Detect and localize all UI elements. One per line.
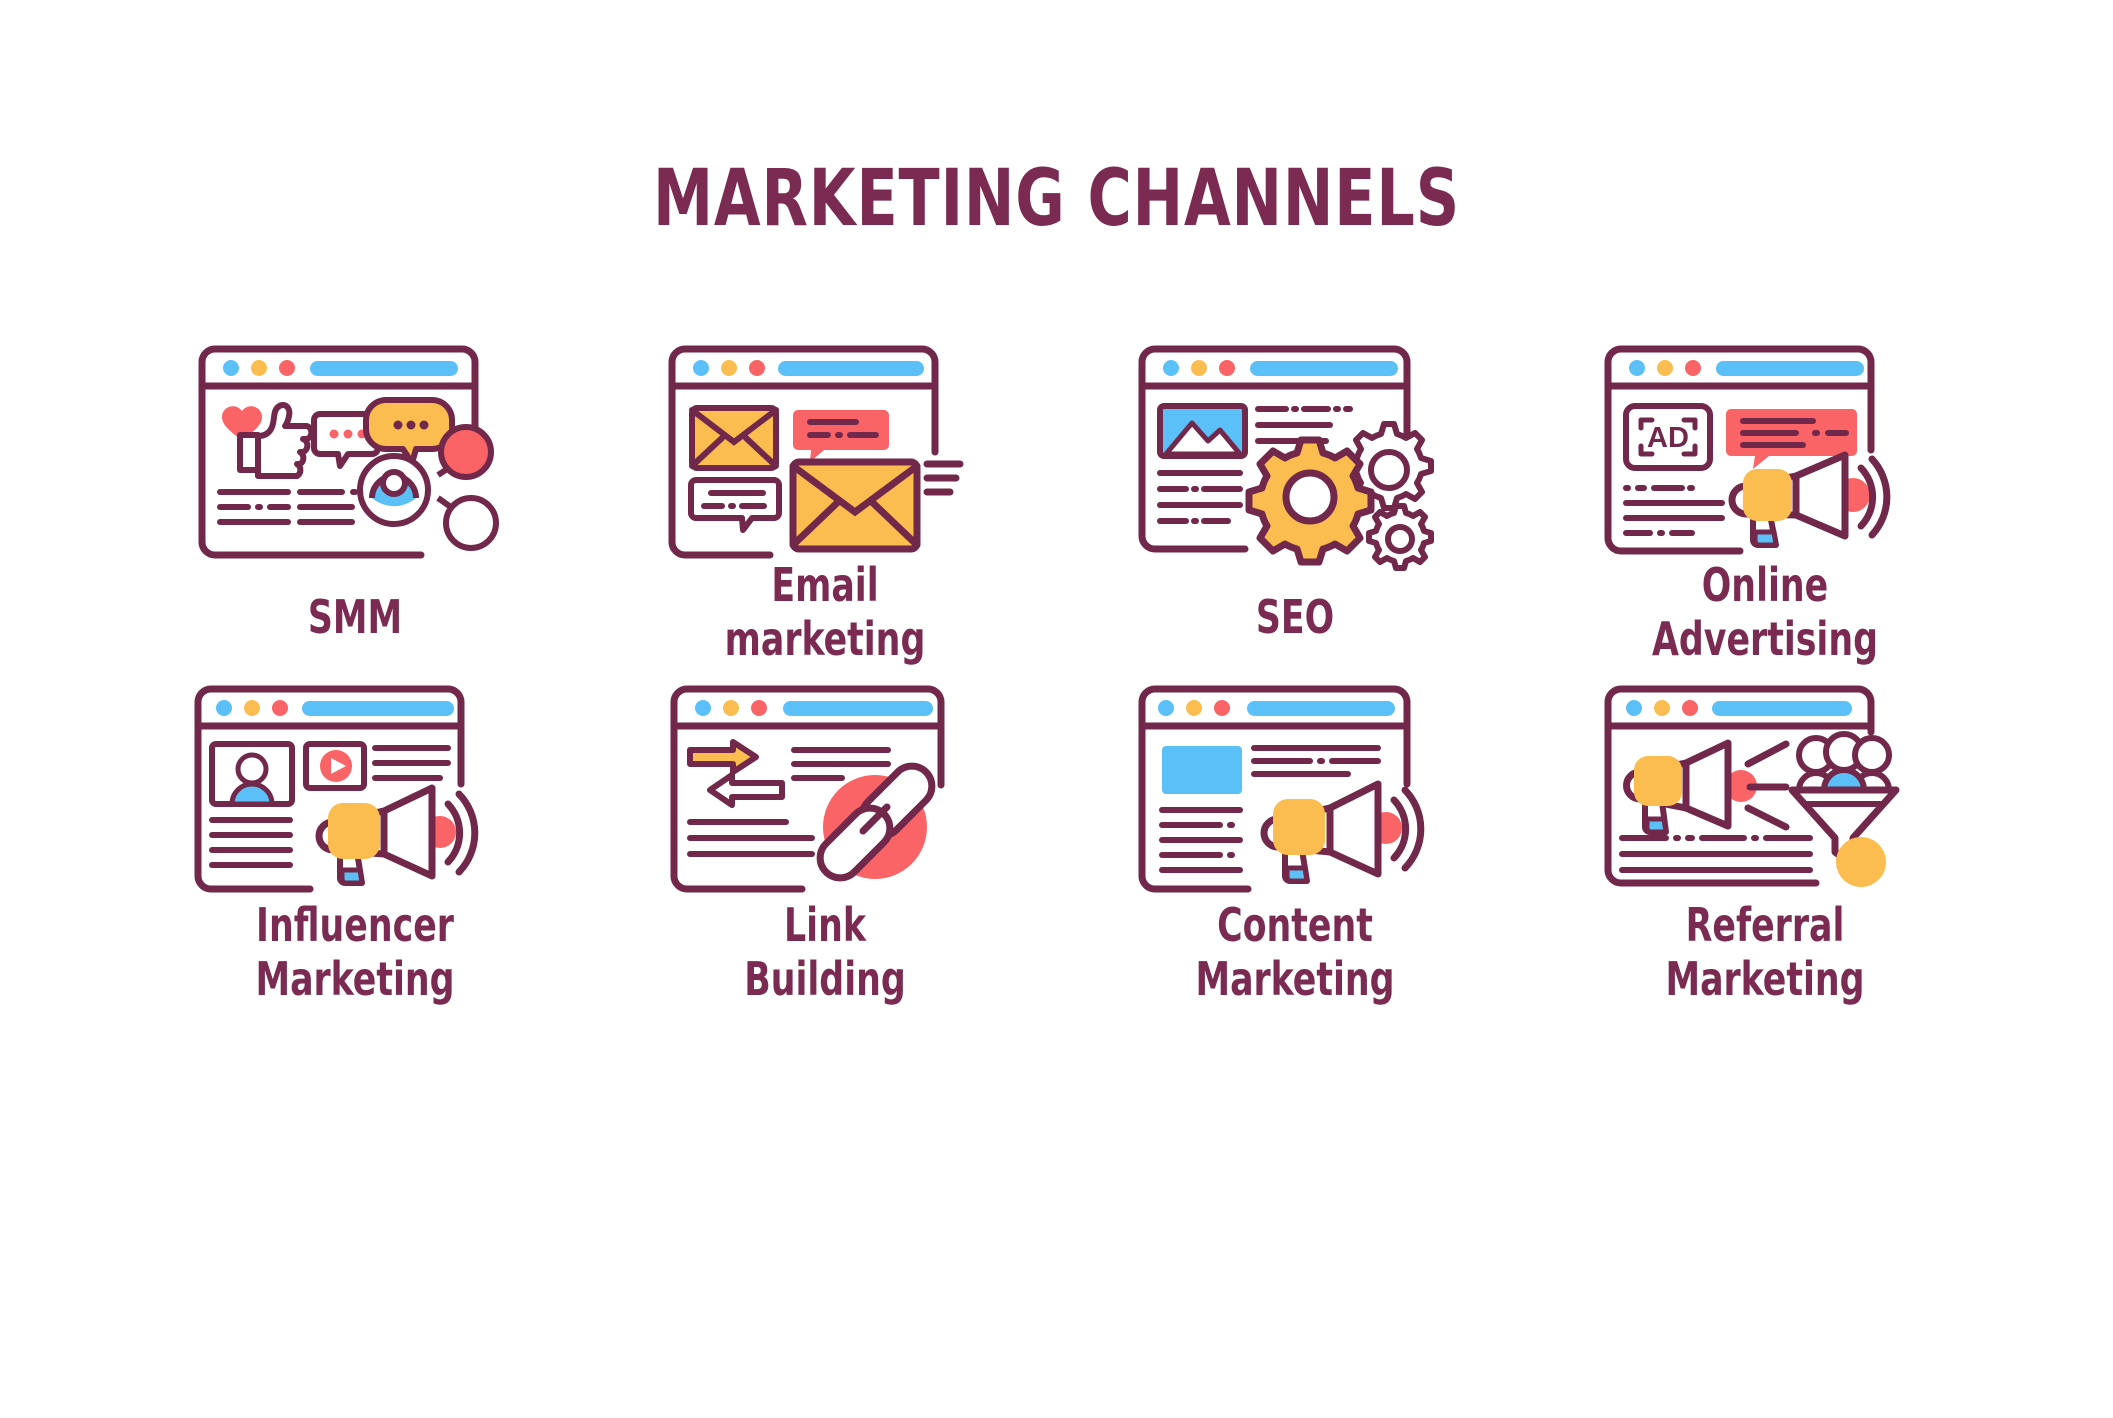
- browser-dot-blue: [695, 700, 711, 716]
- browser-dot-blue: [1629, 360, 1645, 376]
- channel-label-content-marketing: Content Marketing: [1098, 898, 1493, 1007]
- channel-card-content-marketing[interactable]: Content Marketing: [1060, 680, 1530, 1000]
- content-marketing-browser-icon: [1130, 680, 1460, 895]
- seo-browser-icon: [1130, 340, 1460, 555]
- image-placeholder-blue: [1160, 406, 1245, 456]
- browser-dot-yellow: [1191, 360, 1207, 376]
- text-lines: [1622, 838, 1810, 870]
- channel-label-seo: SEO: [1098, 590, 1493, 644]
- browser-dot-red: [279, 360, 295, 376]
- influencer-marketing-browser-icon: [190, 680, 520, 895]
- browser-url-bar: [1250, 361, 1398, 376]
- browser-dot-yellow: [723, 700, 739, 716]
- channel-card-online-advertising[interactable]: AD: [1530, 340, 2000, 660]
- arrow-right-yellow: [690, 742, 756, 772]
- speech-bubble-white: [691, 480, 779, 530]
- browser-dot-red: [1685, 360, 1701, 376]
- browser-dot-yellow: [1657, 360, 1673, 376]
- envelope-yellow-small: [692, 408, 776, 468]
- browser-dot-yellow: [1654, 700, 1670, 716]
- browser-dot-blue: [216, 700, 232, 716]
- text-lines: [220, 492, 355, 522]
- video-play-button: [306, 744, 364, 788]
- browser-url-bar: [1716, 361, 1864, 376]
- channel-label-influencer-marketing: Influencer Marketing: [158, 898, 553, 1007]
- gear-small-white: [1369, 506, 1431, 568]
- browser-url-bar: [778, 361, 924, 376]
- channel-card-smm[interactable]: SMM: [120, 340, 590, 660]
- channel-card-email-marketing[interactable]: Email marketing: [590, 340, 1060, 660]
- online-advertising-browser-icon: AD: [1600, 340, 1930, 555]
- text-lines: [1626, 488, 1722, 533]
- channel-label-email-marketing: Email marketing: [628, 558, 1023, 667]
- content-block-blue: [1162, 746, 1242, 794]
- browser-dot-yellow: [1186, 700, 1202, 716]
- network-circle-white: [438, 498, 496, 548]
- network-circle-red: [438, 427, 491, 477]
- browser-dot-yellow: [244, 700, 260, 716]
- browser-url-bar: [1247, 701, 1395, 716]
- ad-badge-text: AD: [1647, 422, 1689, 454]
- browser-dot-red: [272, 700, 288, 716]
- page-title: MARKETING CHANNELS: [148, 160, 1965, 238]
- channel-label-smm: SMM: [158, 590, 553, 644]
- smm-browser-icon: [190, 340, 520, 555]
- browser-url-bar: [310, 361, 458, 376]
- user-avatar-node: [360, 456, 428, 524]
- referral-marketing-browser-icon: [1600, 680, 1930, 895]
- person-photo: [212, 744, 292, 804]
- browser-dot-yellow: [721, 360, 737, 376]
- channel-card-link-building[interactable]: Link Building: [590, 680, 1060, 1000]
- browser-dot-blue: [693, 360, 709, 376]
- megaphone-icon: [319, 788, 456, 883]
- channel-label-online-advertising: Online Advertising: [1568, 558, 1963, 667]
- browser-dot-blue: [1626, 700, 1642, 716]
- browser-dot-blue: [1158, 700, 1174, 716]
- browser-dot-red: [1214, 700, 1230, 716]
- channel-label-referral-marketing: Referral Marketing: [1568, 898, 1963, 1007]
- browser-dot-red: [749, 360, 765, 376]
- browser-dot-yellow: [251, 360, 267, 376]
- speech-bubble-red: [793, 410, 889, 462]
- browser-dot-red: [751, 700, 767, 716]
- link-building-browser-icon: [660, 680, 990, 895]
- yellow-circle: [1836, 837, 1886, 887]
- browser-url-bar: [302, 701, 454, 716]
- channel-card-influencer-marketing[interactable]: Influencer Marketing: [120, 680, 590, 1000]
- channel-card-referral-marketing[interactable]: Referral Marketing: [1530, 680, 2000, 1000]
- envelope-yellow-large: [793, 462, 917, 549]
- infographic-page: MARKETING CHANNELS: [0, 0, 2113, 1418]
- speed-lines: [927, 464, 960, 492]
- gear-large-yellow: [1249, 440, 1371, 562]
- sound-rays: [1748, 744, 1786, 827]
- browser-dot-blue: [1163, 360, 1179, 376]
- ad-badge: AD: [1626, 406, 1710, 468]
- megaphone-icon: [1627, 743, 1757, 832]
- browser-url-bar: [783, 701, 933, 716]
- browser-dot-red: [1682, 700, 1698, 716]
- browser-dot-blue: [223, 360, 239, 376]
- megaphone-icon: [1732, 455, 1870, 545]
- browser-url-bar: [1712, 701, 1852, 716]
- channel-card-seo[interactable]: SEO: [1060, 340, 1530, 660]
- browser-dot-red: [1219, 360, 1235, 376]
- arrow-left: [710, 775, 782, 805]
- email-marketing-browser-icon: [660, 340, 990, 555]
- marketing-channels-grid: SMM: [120, 340, 2000, 1000]
- channel-label-link-building: Link Building: [628, 898, 1023, 1007]
- megaphone-icon: [1264, 784, 1402, 881]
